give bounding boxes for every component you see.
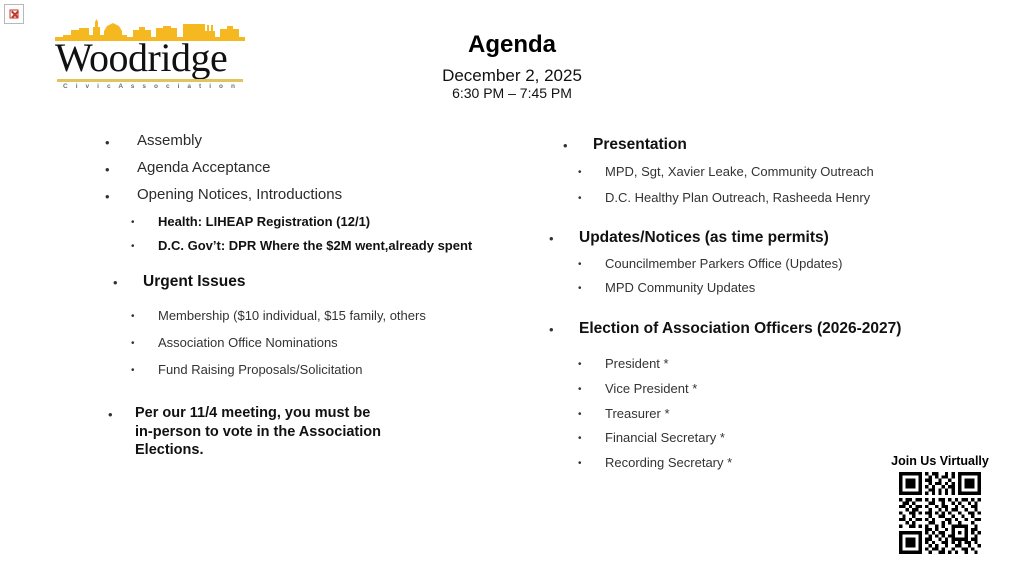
list-item-label: Councilmember Parkers Office (Updates)	[605, 256, 842, 272]
list-item-assembly: • Assembly	[105, 132, 202, 150]
bullet-icon: •	[578, 430, 605, 444]
bullet-icon: •	[131, 308, 158, 322]
list-item-membership: • Membership ($10 individual, $15 family…	[131, 308, 426, 324]
list-item-recording-secretary: • Recording Secretary *	[578, 455, 732, 471]
bullet-icon: •	[105, 159, 137, 176]
bullet-icon: •	[578, 280, 605, 294]
list-item-label: Election of Association Officers (2026-2…	[579, 319, 901, 338]
list-item-agenda-acceptance: • Agenda Acceptance	[105, 159, 270, 177]
join-us-virtually-block: Join Us Virtually	[884, 454, 996, 554]
bullet-icon: •	[131, 335, 158, 349]
list-item-label: Vice President *	[605, 381, 697, 397]
list-item-presentation: • Presentation	[563, 135, 687, 154]
list-item-treasurer: • Treasurer *	[578, 406, 670, 422]
list-item-label: MPD Community Updates	[605, 280, 755, 296]
list-item-updates-notices: • Updates/Notices (as time permits)	[549, 228, 829, 247]
meeting-time: 6:30 PM – 7:45 PM	[0, 85, 1024, 101]
list-item-mpd-sgt-leake: • MPD, Sgt, Xavier Leake, Community Outr…	[578, 164, 874, 180]
bullet-icon: •	[578, 256, 605, 270]
list-item-office-nominations: • Association Office Nominations	[131, 335, 338, 351]
bullet-icon: •	[578, 406, 605, 420]
list-item-fund-raising: • Fund Raising Proposals/Solicitation	[131, 362, 363, 378]
list-item-note: already spent	[388, 238, 472, 254]
list-item-label: Recording Secretary *	[605, 455, 732, 471]
bullet-icon: •	[131, 362, 158, 376]
list-item-president: • President *	[578, 356, 669, 372]
list-item-in-person-vote-notice: • Per our 11/4 meeting, you must be in-p…	[108, 404, 385, 460]
bullet-icon: •	[105, 132, 137, 149]
agenda-slide: Woodridge C i v i c A s s o c i a t i o …	[0, 0, 1024, 576]
list-item-label: Treasurer *	[605, 406, 670, 422]
list-item-vice-president: • Vice President *	[578, 381, 697, 397]
list-item-label: Assembly	[137, 132, 202, 150]
broken-image-cross-icon	[10, 10, 19, 19]
bullet-icon: •	[549, 319, 579, 336]
list-item-urgent-issues: • Urgent Issues	[113, 272, 246, 291]
bullet-icon: •	[108, 404, 135, 421]
list-item-councilmember-parker: • Councilmember Parkers Office (Updates)	[578, 256, 842, 272]
bullet-icon: •	[549, 228, 579, 245]
broken-image-icon	[4, 4, 24, 24]
bullet-icon: •	[105, 186, 137, 203]
list-item-mpd-community-updates: • MPD Community Updates	[578, 280, 755, 296]
list-item-label: Financial Secretary *	[605, 430, 725, 446]
bullet-icon: •	[563, 135, 593, 152]
list-item-election-officers: • Election of Association Officers (2026…	[549, 319, 901, 338]
list-item-label: D.C. Healthy Plan Outreach, Rasheeda Hen…	[605, 190, 870, 206]
bullet-icon: •	[131, 238, 158, 252]
bullet-icon: •	[113, 272, 143, 289]
list-item-label: Urgent Issues	[143, 272, 246, 291]
list-item-dc-healthy-plan: • D.C. Healthy Plan Outreach, Rasheeda H…	[578, 190, 870, 206]
bullet-icon: •	[578, 164, 605, 178]
list-item-label: Agenda Acceptance	[137, 159, 270, 177]
list-item-dc-govt-dpr: • D.C. Gov’t: DPR Where the $2M went, al…	[131, 238, 472, 254]
list-item-health-liheap: • Health: LIHEAP Registration (12/1)	[131, 214, 370, 230]
list-item-label: D.C. Gov’t: DPR Where the $2M went,	[158, 238, 388, 254]
page-title: Agenda	[0, 31, 1024, 59]
list-item-label: MPD, Sgt, Xavier Leake, Community Outrea…	[605, 164, 874, 180]
list-item-label: Opening Notices, Introductions	[137, 186, 342, 204]
bullet-icon: •	[578, 356, 605, 370]
list-item-label: Per our 11/4 meeting, you must be in-per…	[135, 404, 385, 460]
bullet-icon: •	[578, 455, 605, 469]
bullet-icon: •	[578, 381, 605, 395]
list-item-label: Health: LIHEAP Registration (12/1)	[158, 214, 370, 230]
bullet-icon: •	[131, 214, 158, 228]
list-item-label: Membership ($10 individual, $15 family, …	[158, 308, 426, 324]
list-item-label: Association Office Nominations	[158, 335, 338, 351]
bullet-icon: •	[578, 190, 605, 204]
list-item-financial-secretary: • Financial Secretary *	[578, 430, 725, 446]
list-item-label: Updates/Notices (as time permits)	[579, 228, 829, 247]
list-item-opening-notices: • Opening Notices, Introductions	[105, 186, 342, 204]
qr-label: Join Us Virtually	[884, 454, 996, 468]
list-item-label: Presentation	[593, 135, 687, 154]
list-item-label: President *	[605, 356, 669, 372]
list-item-label: Fund Raising Proposals/Solicitation	[158, 362, 363, 378]
qr-code-icon[interactable]	[899, 472, 981, 554]
meeting-date: December 2, 2025	[0, 66, 1024, 86]
